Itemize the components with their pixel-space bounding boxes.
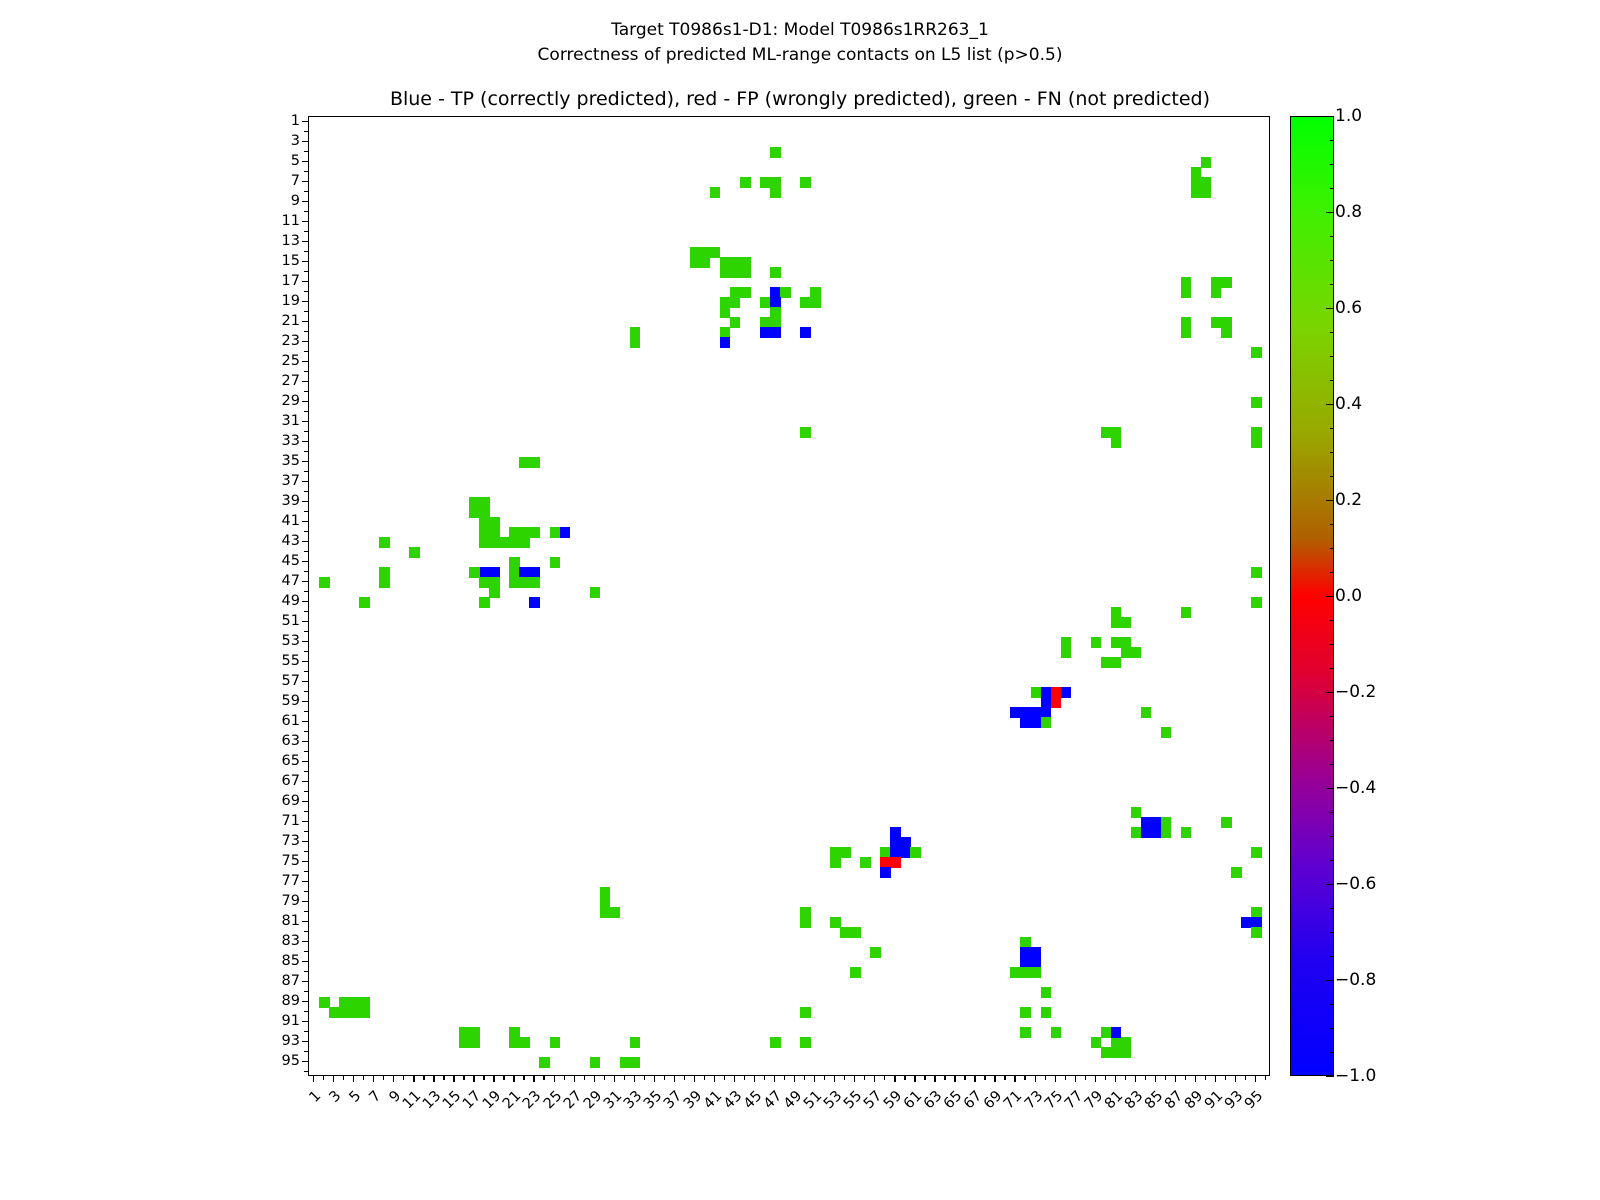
y-tick-mark [302,421,308,422]
contact-cell-fn [469,507,480,518]
y-tick-label: 35 [262,453,300,469]
y-tick-mark [302,801,308,802]
contact-cell-fn [469,497,480,508]
x-tick-mark [363,1076,364,1080]
x-tick-mark [393,1076,394,1082]
contact-cell-fn [379,537,390,548]
y-tick-mark [302,861,308,862]
y-tick-label: 51 [262,613,300,629]
contact-cell-fn [349,997,360,1008]
contact-cell-fn [479,507,490,518]
x-tick-mark [1135,1076,1136,1082]
contact-cell-fn [710,187,721,198]
y-tick-mark [302,321,308,322]
y-tick-mark [302,601,308,602]
x-tick-mark [473,1076,474,1082]
contact-cell-fn [459,1027,470,1038]
x-tick-mark [844,1076,845,1080]
colorbar-minor-tick [1330,476,1334,477]
x-tick-mark [453,1076,454,1082]
contact-cell-fn [1141,707,1152,718]
x-tick-mark [433,1076,434,1082]
contact-cell-fn [489,537,500,548]
y-tick-mark [304,571,308,572]
contact-cell-fn [770,317,781,328]
y-tick-mark [302,501,308,502]
contact-cell-fn [509,1027,520,1038]
contact-cell-fn [730,257,741,268]
contact-cell-fn [509,577,520,588]
x-tick-mark [313,1076,314,1082]
x-tick-mark [1125,1076,1126,1080]
y-tick-label: 41 [262,513,300,529]
colorbar-minor-tick [1330,380,1334,381]
contact-cell-fn [1181,317,1192,328]
contact-cell-fn [1101,1027,1112,1038]
y-tick-mark [302,641,308,642]
contact-cell-fn [720,327,731,338]
x-tick-mark [373,1076,374,1082]
x-tick-mark [1195,1076,1196,1082]
x-tick-mark [1255,1076,1256,1082]
y-tick-mark [304,1031,308,1032]
y-tick-mark [302,221,308,222]
x-tick-mark [1065,1076,1066,1080]
contact-cell-fn [339,1007,350,1018]
contact-cell-tp [1031,957,1042,968]
contact-cell-fn [459,1037,470,1048]
y-tick-label: 5 [262,153,300,169]
x-tick-mark [684,1076,685,1080]
y-tick-mark [302,901,308,902]
contact-cell-tp [880,867,891,878]
contact-cell-fn [730,297,741,308]
colorbar-tick-mark [1326,596,1334,597]
contact-cell-fn [550,1037,561,1048]
contact-cell-tp [1111,1027,1122,1038]
x-tick-mark [974,1076,975,1082]
contact-cell-tp [1251,917,1262,928]
contact-cell-fn [1020,967,1031,978]
y-tick-mark [302,261,308,262]
y-tick-mark [302,181,308,182]
contact-cell-tp [1020,947,1031,958]
y-tick-label: 33 [262,433,300,449]
contact-cell-fn [1191,167,1202,178]
y-tick-label: 59 [262,693,300,709]
y-tick-label: 79 [262,893,300,909]
colorbar-minor-tick [1330,1028,1334,1029]
colorbar-minor-tick [1330,572,1334,573]
contact-cell-fn [1251,907,1262,918]
contact-cell-fn [1101,427,1112,438]
contact-cell-fn [529,527,540,538]
contact-cell-tp [529,567,540,578]
contact-cell-fn [1231,867,1242,878]
colorbar-tick-mark [1326,212,1334,213]
contact-cell-tp [800,327,811,338]
y-tick-label: 77 [262,873,300,889]
contact-cell-fn [800,917,811,928]
contact-cell-fn [359,597,370,608]
y-tick-mark [302,841,308,842]
contact-cell-fn [1020,1007,1031,1018]
x-tick-mark [954,1076,955,1082]
y-tick-mark [302,681,308,682]
y-tick-label: 39 [262,493,300,509]
contact-cell-fn [600,887,611,898]
x-tick-mark [383,1076,384,1080]
contact-cell-fn [1251,397,1262,408]
contact-cell-fn [1251,927,1262,938]
contact-cell-fn [319,997,330,1008]
contact-cell-fn [630,337,641,348]
contact-cell-tp [1241,917,1252,928]
contact-cell-fn [1101,657,1112,668]
contact-cell-fn [1091,1037,1102,1048]
x-tick-mark [834,1076,835,1082]
x-tick-mark [423,1076,424,1080]
y-tick-mark [304,531,308,532]
x-tick-mark [574,1076,575,1082]
y-tick-mark [304,811,308,812]
x-tick-mark [1185,1076,1186,1080]
y-tick-label: 95 [262,1053,300,1069]
contact-cell-fn [630,327,641,338]
contact-cell-fn [409,547,420,558]
x-tick-mark [744,1076,745,1080]
contact-cell-fn [1221,327,1232,338]
contact-cell-fn [590,587,601,598]
contact-cell-fn [710,247,721,258]
y-tick-mark [302,621,308,622]
contact-cell-tp [529,597,540,608]
contact-cell-fn [1211,277,1222,288]
y-tick-mark [304,491,308,492]
y-tick-mark [304,851,308,852]
contact-cell-fn [1121,1047,1132,1058]
x-tick-mark [804,1076,805,1080]
contact-cell-fn [329,1007,340,1018]
contact-cell-fn [800,297,811,308]
contact-cell-fn [740,177,751,188]
y-tick-mark [304,1011,308,1012]
contact-cell-fn [1111,1037,1122,1048]
contact-cell-fn [469,1027,480,1038]
contact-cell-fn [1111,1047,1122,1058]
colorbar-tick-mark [1326,308,1334,309]
y-tick-mark [302,381,308,382]
y-tick-mark [304,171,308,172]
contact-cell-fn [1111,427,1122,438]
contact-cell-tp [1031,717,1042,728]
colorbar-tick-mark [1326,500,1334,501]
x-tick-mark [413,1076,414,1082]
colorbar-minor-tick [1330,236,1334,237]
contact-cell-fn [1181,607,1192,618]
x-tick-mark [864,1076,865,1080]
contact-cell-tp [770,297,781,308]
y-tick-mark [304,191,308,192]
contact-cell-fn [840,847,851,858]
x-tick-mark [714,1076,715,1082]
contact-cell-fn [730,287,741,298]
y-tick-mark [304,611,308,612]
contact-cell-fn [1111,607,1122,618]
x-tick-mark [814,1076,815,1082]
contact-cell-fn [379,567,390,578]
contact-cell-tp [560,527,571,538]
contact-cell-fn [740,287,751,298]
x-tick-mark [884,1076,885,1080]
x-tick-mark [704,1076,705,1080]
x-tick-mark [1225,1076,1226,1080]
contact-cell-tp [479,567,490,578]
y-tick-mark [304,371,308,372]
contact-cell-fn [1041,717,1052,728]
y-tick-mark [304,871,308,872]
contact-cell-fn [1191,177,1202,188]
contact-cell-tp [900,837,911,848]
y-tick-mark [302,581,308,582]
colorbar-minor-tick [1330,764,1334,765]
colorbar-tick-label: 0.4 [1335,394,1362,414]
contact-cell-tp [1041,707,1052,718]
contact-cell-tp [890,827,901,838]
y-tick-mark [304,311,308,312]
contact-cell-fn [1251,347,1262,358]
y-tick-label: 57 [262,673,300,689]
x-tick-mark [754,1076,755,1082]
x-tick-mark [1045,1076,1046,1080]
y-tick-mark [304,711,308,712]
y-tick-mark [304,971,308,972]
y-tick-mark [302,1021,308,1022]
y-tick-mark [304,151,308,152]
x-tick-mark [924,1076,925,1080]
y-tick-mark [304,411,308,412]
y-tick-mark [302,121,308,122]
x-tick-mark [1145,1076,1146,1080]
contact-cell-fn [1181,327,1192,338]
contact-cell-fn [600,897,611,908]
contact-cell-fn [800,427,811,438]
contact-cell-fn [1191,187,1202,198]
y-tick-mark [304,131,308,132]
y-tick-mark [302,821,308,822]
y-tick-mark [302,401,308,402]
y-tick-label: 67 [262,773,300,789]
heatmap-cells [309,117,1269,1075]
contact-cell-tp [1151,817,1162,828]
contact-cell-fn [499,537,510,548]
contact-cell-fn [770,147,781,158]
contact-cell-tp [1041,687,1052,698]
y-tick-mark [302,541,308,542]
colorbar-tick-mark [1326,884,1334,885]
contact-cell-tp [770,287,781,298]
contact-cell-fn [379,577,390,588]
title-line-2: Correctness of predicted ML-range contac… [0,43,1600,68]
contact-cell-tp [890,837,901,848]
contact-cell-fn [600,907,611,918]
colorbar-minor-tick [1330,668,1334,669]
y-tick-mark [304,471,308,472]
y-tick-mark [302,361,308,362]
y-tick-mark [304,351,308,352]
y-tick-label: 23 [262,333,300,349]
contact-cell-tp [1141,817,1152,828]
x-tick-mark [403,1076,404,1080]
contact-cell-fn [830,857,841,868]
contact-cell-fn [800,1007,811,1018]
contact-cell-fn [740,267,751,278]
y-tick-mark [302,241,308,242]
colorbar-tick-label: −0.6 [1335,874,1376,894]
y-tick-mark [302,881,308,882]
y-tick-label: 83 [262,933,300,949]
contact-cell-fn [700,247,711,258]
contact-cell-fn [1221,277,1232,288]
colorbar-tick-mark [1326,404,1334,405]
contact-cell-fn [1201,157,1212,168]
contact-cell-fn [630,1037,641,1048]
contact-cell-fn [1111,437,1122,448]
contact-cell-fn [1091,637,1102,648]
y-tick-label: 45 [262,553,300,569]
x-tick-mark [1055,1076,1056,1082]
y-tick-label: 71 [262,813,300,829]
contact-cell-tp [1041,697,1052,708]
y-tick-label: 69 [262,793,300,809]
y-tick-label: 53 [262,633,300,649]
contact-cell-fn [810,287,821,298]
contact-cell-fn [690,257,701,268]
contact-cell-fn [1061,637,1072,648]
y-tick-mark [304,731,308,732]
y-tick-label: 27 [262,373,300,389]
colorbar-tick-label: 0.0 [1335,586,1362,606]
y-tick-mark [302,1041,308,1042]
colorbar-minor-tick [1330,932,1334,933]
y-tick-mark [302,521,308,522]
contact-cell-fn [509,527,520,538]
contact-cell-tp [1151,827,1162,838]
y-tick-label: 55 [262,653,300,669]
contact-cell-fn [800,907,811,918]
contact-cell-fn [509,1037,520,1048]
y-tick-mark [302,741,308,742]
contact-cell-fn [880,847,891,858]
contact-cell-fn [770,307,781,318]
y-tick-mark [304,1071,308,1072]
contact-cell-fn [509,557,520,568]
colorbar-tick-mark [1326,980,1334,981]
x-tick-mark [674,1076,675,1082]
y-tick-label: 25 [262,353,300,369]
x-tick-mark [734,1076,735,1082]
contact-cell-fn [840,927,851,938]
y-tick-mark [302,1061,308,1062]
x-tick-mark [503,1076,504,1080]
x-tick-mark [604,1076,605,1080]
y-tick-mark [304,291,308,292]
y-tick-label: 61 [262,713,300,729]
contact-cell-fn [479,577,490,588]
contact-cell-fn [479,597,490,608]
contact-cell-fn [770,267,781,278]
contact-cell-fn [760,297,771,308]
x-tick-mark [1014,1076,1015,1082]
contact-cell-fn [810,297,821,308]
x-tick-mark [333,1076,334,1082]
y-tick-mark [302,781,308,782]
y-tick-mark [302,461,308,462]
y-tick-mark [302,701,308,702]
contact-cell-fn [1020,937,1031,948]
y-tick-mark [302,721,308,722]
x-tick-mark [1075,1076,1076,1082]
y-tick-label: 65 [262,753,300,769]
contact-cell-tp [1031,947,1042,958]
colorbar-tick-label: 0.8 [1335,202,1362,222]
contact-cell-fn [800,1037,811,1048]
contact-cell-fn [1161,817,1172,828]
contact-map-plot [308,116,1270,1076]
contact-cell-fn [770,177,781,188]
contact-cell-fn [1161,827,1172,838]
y-tick-mark [302,941,308,942]
contact-cell-fn [519,537,530,548]
contact-cell-tp [1020,957,1031,968]
x-tick-mark [944,1076,945,1080]
contact-cell-fn [1221,317,1232,328]
contact-cell-tp [760,327,771,338]
colorbar-minor-tick [1330,644,1334,645]
contact-cell-fn [1131,647,1142,658]
y-tick-label: 85 [262,953,300,969]
y-tick-mark [302,201,308,202]
contact-cell-fn [1251,847,1262,858]
x-tick-mark [1095,1076,1096,1082]
y-tick-label: 17 [262,273,300,289]
contact-cell-tp [1141,827,1152,838]
contact-cell-fn [730,267,741,278]
title-line-1: Target T0986s1-D1: Model T0986s1RR263_1 [0,18,1600,43]
y-tick-mark [304,991,308,992]
x-tick-mark [774,1076,775,1082]
x-tick-mark [784,1076,785,1080]
contact-cell-fn [519,577,530,588]
contact-cell-fn [359,997,370,1008]
contact-cell-fn [1061,647,1072,658]
x-tick-mark [443,1076,444,1080]
colorbar-minor-tick [1330,428,1334,429]
x-tick-mark [1205,1076,1206,1080]
contact-cell-fn [910,847,921,858]
contact-cell-fn [700,257,711,268]
contact-cell-fp [1051,697,1062,708]
contact-cell-fn [1041,1007,1052,1018]
contact-cell-fp [880,857,891,868]
y-tick-label: 21 [262,313,300,329]
colorbar-minor-tick [1330,740,1334,741]
x-tick-mark [984,1076,985,1080]
contact-cell-fn [1121,637,1132,648]
x-tick-mark [664,1076,665,1080]
x-tick-mark [904,1076,905,1080]
x-tick-mark [994,1076,995,1082]
